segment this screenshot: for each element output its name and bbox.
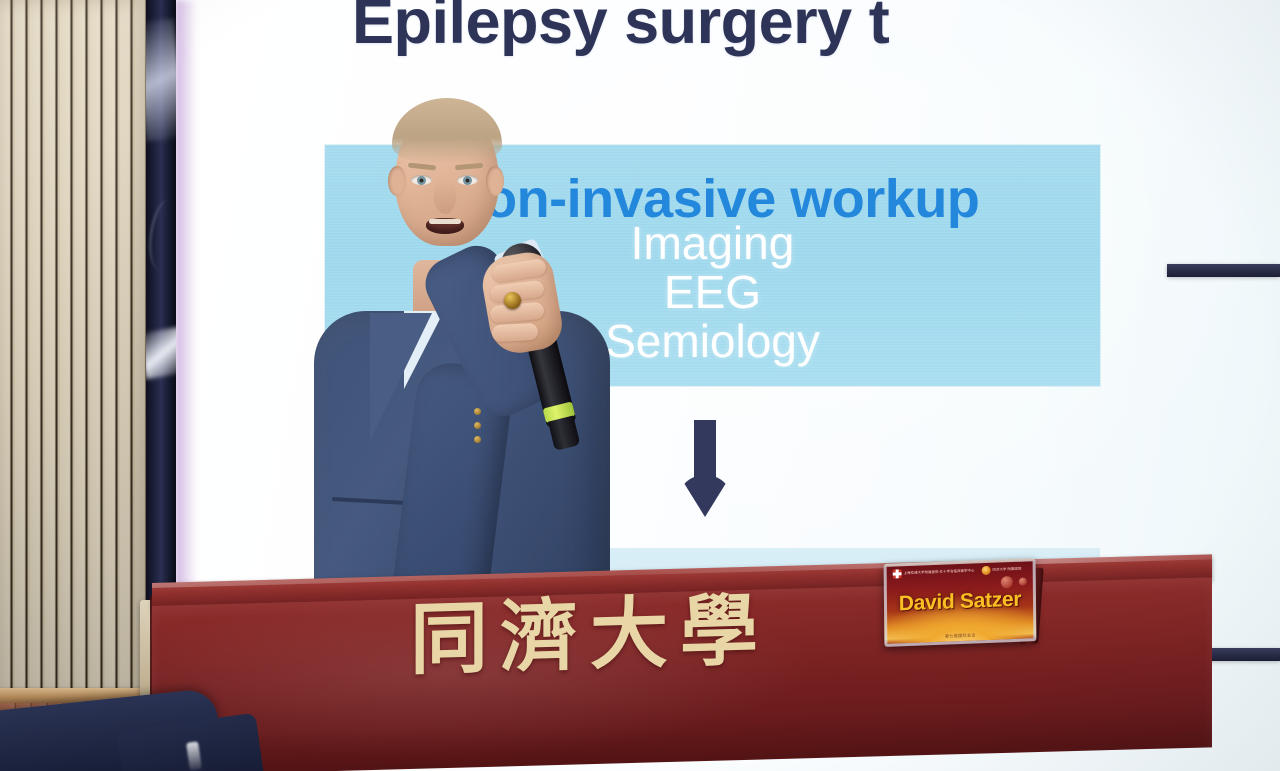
speaker-nameplate: 上海交通大学附属医院 红十字会临床医学中心 同济大学 附属医院 David Sa… [884,558,1037,647]
speaker-mouth [426,218,464,234]
podium-inscription: 同濟大學 [410,590,830,680]
finger-little [492,323,539,342]
slide-title: Epilepsy surgery t [352,0,1280,58]
speaker-eye-right [457,175,478,185]
arrow-shaft [694,420,716,478]
nameplate-logo-left: 上海交通大学附属医院 红十字会临床医学中心 [893,566,975,578]
speaker-ear-left [388,166,406,196]
university-seal-icon [981,566,990,575]
speaker-teeth [429,219,461,224]
column-highlight-top [146,18,176,142]
nameplate-bokeh-dots [1001,575,1027,588]
nameplate-logo-right: 同济大学 附属医院 [981,565,1021,576]
speaker-figure [300,96,630,596]
jacket-cuff-buttons [474,408,484,464]
nameplate-logo-left-text: 上海交通大学附属医院 红十字会临床医学中心 [904,569,975,576]
speaker-ear-right [486,166,504,196]
iris-left [417,176,426,185]
right-decorative-bar-upper [1167,264,1280,277]
nameplate-logo-right-text: 同济大学 附属医院 [993,567,1022,572]
column-reflection [146,198,176,271]
presentation-photo: Epilepsy surgery t Non-invasive workup I… [0,0,1280,771]
speaker-nose [434,180,456,214]
wood-slat-wall-panel [0,0,146,700]
speaker-eye-left [411,175,432,185]
iris-right [463,176,472,185]
column-highlight-mid [146,327,176,380]
lapel-pin-icon [504,292,521,309]
microphone-tail [548,416,580,451]
arrow-head [679,475,731,517]
red-cross-icon [893,569,902,578]
speaker-hair [392,98,502,164]
